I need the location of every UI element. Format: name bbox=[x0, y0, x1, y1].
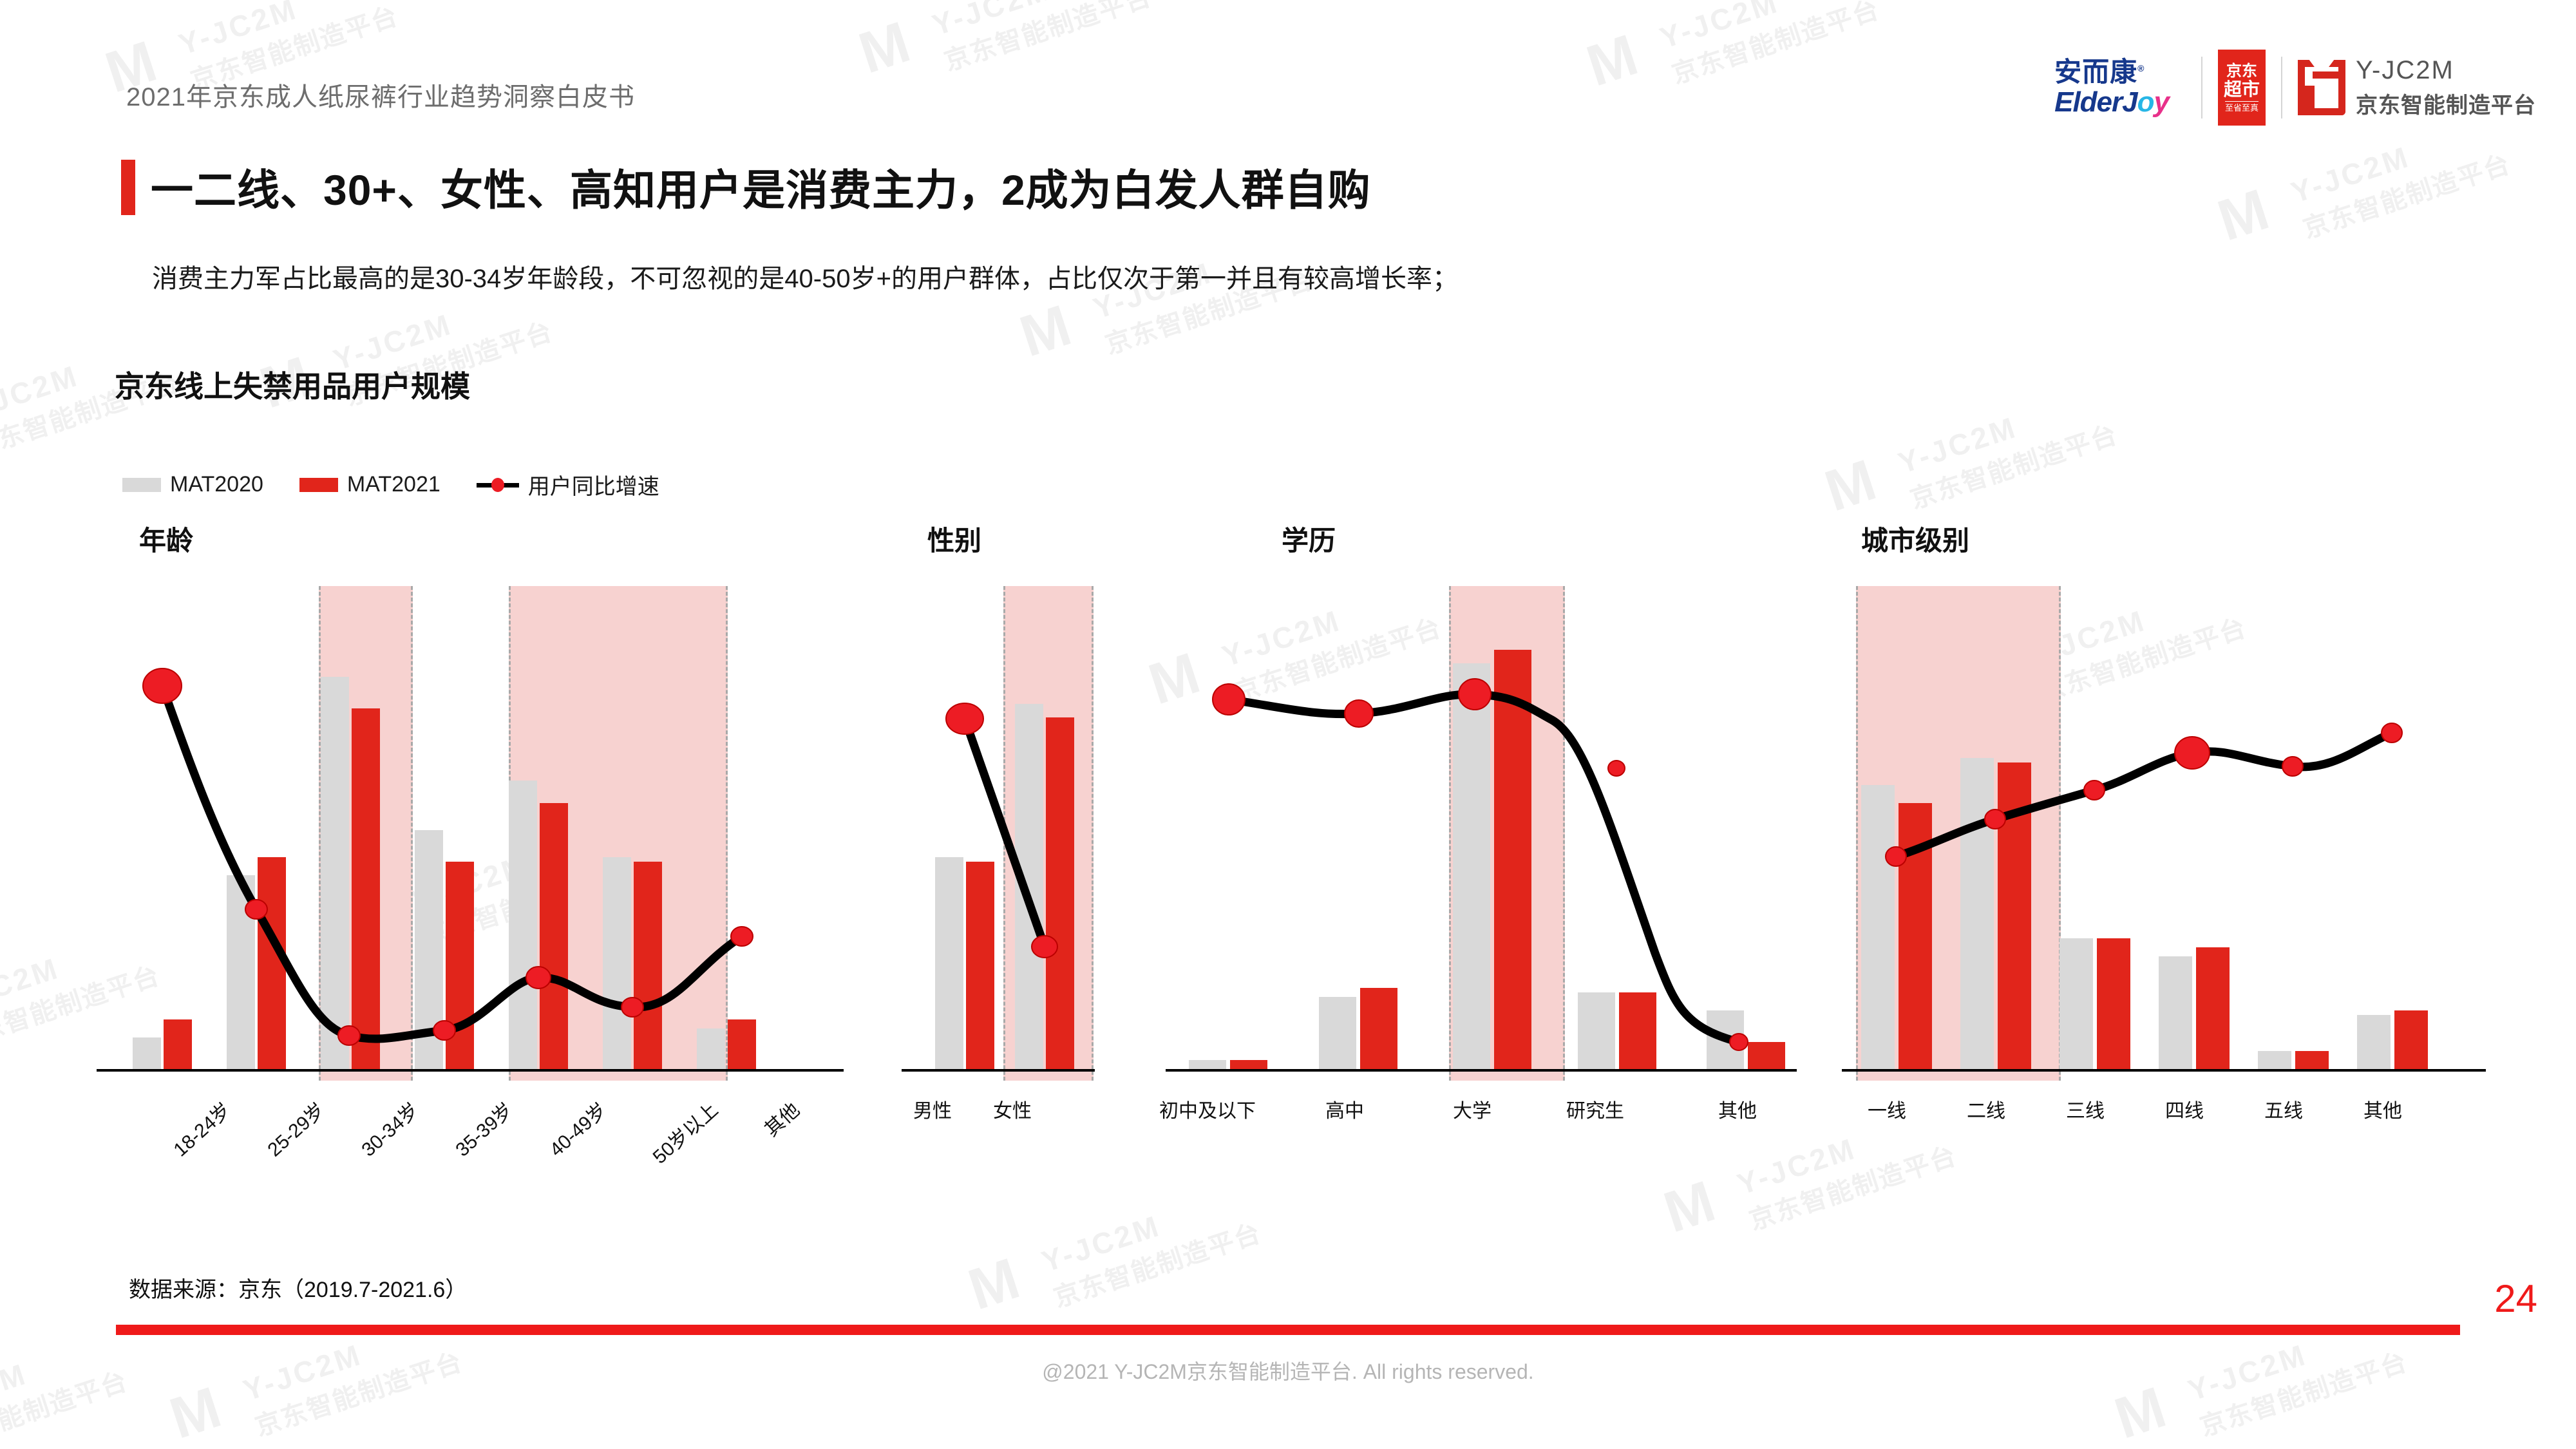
x-tick-label: 四线 bbox=[2165, 1095, 2204, 1123]
watermark-logo-icon: M bbox=[164, 1376, 242, 1449]
plot-area-gender bbox=[902, 618, 1095, 1069]
footer-rule bbox=[116, 1325, 2460, 1335]
yjc2m-logo: Y-JC2M 京东智能制造平台 bbox=[2298, 56, 2536, 119]
watermark-logo-icon: M bbox=[2109, 1376, 2187, 1449]
registered-icon: ® bbox=[2137, 63, 2145, 73]
watermark-logo-icon: M bbox=[1581, 23, 1659, 101]
page-title: 一二线、30+、女性、高知用户是消费主力，2成为白发人群自购 bbox=[151, 156, 1371, 218]
panel-title-education: 学历 bbox=[1282, 519, 1336, 558]
legend-swatch-icon bbox=[122, 478, 161, 492]
x-tick-label: 女性 bbox=[993, 1095, 1032, 1123]
yjc2m-wordmark: Y-JC2M 京东智能制造平台 bbox=[2356, 56, 2536, 119]
plot-area-education bbox=[1166, 618, 1797, 1069]
x-tick-label: 40-49岁 bbox=[542, 1095, 612, 1162]
x-tick-label: 其他 bbox=[2363, 1095, 2402, 1123]
jd-supermarket-logo: 京东 超市 至省至真 bbox=[2218, 50, 2266, 126]
watermark: M Y-JC2M 京东智能制造平台 bbox=[1656, 0, 1884, 91]
watermark: M Y-JC2M 京东智能制造平台 bbox=[1037, 1179, 1265, 1314]
chart-legend: MAT2020 MAT2021 用户同比增速 bbox=[122, 469, 659, 500]
x-tick-label: 初中及以下 bbox=[1159, 1095, 1256, 1123]
page-number: 24 bbox=[2494, 1276, 2537, 1321]
growth-line-education bbox=[1166, 618, 1797, 1069]
watermark-logo-icon: M bbox=[1819, 448, 1897, 526]
elderjoy-en-d: y bbox=[2154, 86, 2169, 118]
x-axis-line bbox=[97, 1069, 844, 1072]
x-tick-label: 其他 bbox=[1718, 1095, 1757, 1123]
watermark-logo-icon: M bbox=[1658, 1170, 1736, 1247]
copyright-text: @2021 Y-JC2M京东智能制造平台. All rights reserve… bbox=[0, 1356, 2576, 1385]
growth-line-age bbox=[97, 618, 844, 1069]
chart-title: 京东线上失禁用品用户规模 bbox=[115, 363, 470, 406]
x-tick-label: 18-24岁 bbox=[166, 1095, 236, 1162]
watermark: M Y-JC2M 京东智能制造平台 bbox=[2287, 110, 2515, 245]
plot-area-city-tier bbox=[1842, 618, 2486, 1069]
x-tick-label: 二线 bbox=[1967, 1095, 2005, 1123]
watermark-logo-icon: M bbox=[1014, 294, 1092, 372]
legend-item-mat2021[interactable]: MAT2021 bbox=[299, 472, 440, 497]
legend-swatch-icon bbox=[299, 478, 338, 492]
document-title: 2021年京东成人纸尿裤行业趋势洞察白皮书 bbox=[126, 76, 635, 113]
x-tick-label: 50岁以上 bbox=[645, 1095, 723, 1169]
legend-label: MAT2021 bbox=[347, 472, 440, 497]
watermark-logo-icon: M bbox=[853, 10, 931, 88]
x-axis-line bbox=[1842, 1069, 2486, 1072]
x-tick-label: 其他 bbox=[757, 1095, 804, 1142]
x-tick-label: 研究生 bbox=[1566, 1095, 1624, 1123]
watermark: M Y-JC2M 京东智能制造平台 bbox=[1733, 1102, 1961, 1237]
growth-line-city-tier bbox=[1842, 618, 2486, 1069]
yjc2m-mark-icon bbox=[2298, 60, 2345, 115]
growth-line-gender bbox=[902, 618, 1095, 1069]
elderjoy-en-c: o bbox=[2137, 86, 2154, 118]
headline-accent-bar bbox=[121, 160, 135, 215]
legend-item-growth[interactable]: 用户同比增速 bbox=[477, 469, 659, 500]
x-tick-label: 男性 bbox=[913, 1095, 952, 1123]
watermark: M Y-JC2M 京东智能制造平台 bbox=[0, 1327, 132, 1449]
x-tick-label: 一线 bbox=[1868, 1095, 1906, 1123]
x-tick-label: 五线 bbox=[2264, 1095, 2303, 1123]
elderjoy-logo: 安而康® ElderJoy bbox=[2054, 59, 2186, 117]
plot-area-age bbox=[97, 618, 844, 1069]
x-tick-label: 30-34岁 bbox=[354, 1095, 424, 1162]
logo-strip: 安而康® ElderJoy 京东 超市 至省至真 Y-JC2M 京东智能制造平台 bbox=[2054, 49, 2536, 126]
elderjoy-en-b: J bbox=[2122, 86, 2137, 118]
legend-item-mat2020[interactable]: MAT2020 bbox=[122, 472, 263, 497]
logo-divider bbox=[2281, 57, 2282, 118]
data-source: 数据来源：京东（2019.7-2021.6） bbox=[129, 1272, 467, 1303]
panel-title-city-tier: 城市级别 bbox=[1861, 519, 1969, 558]
watermark: M Y-JC2M 京东智能制造平台 bbox=[928, 0, 1156, 78]
elderjoy-cn-text: 安而康 bbox=[2054, 57, 2137, 87]
logo-divider bbox=[2201, 57, 2202, 118]
legend-label: 用户同比增速 bbox=[528, 469, 659, 500]
watermark-logo-icon: M bbox=[963, 1247, 1041, 1325]
watermark-logo-icon: M bbox=[2212, 178, 2290, 256]
x-tick-label: 高中 bbox=[1325, 1095, 1364, 1123]
x-tick-label: 35-39岁 bbox=[448, 1095, 518, 1162]
panel-title-gender: 性别 bbox=[927, 519, 981, 558]
x-tick-label: 三线 bbox=[2066, 1095, 2105, 1123]
panel-title-age: 年龄 bbox=[139, 519, 193, 558]
slide-canvas: M Y-JC2M 京东智能制造平台 M Y-JC2M 京东智能制造平台 M Y-… bbox=[0, 0, 2576, 1449]
page-subtitle: 消费主力军占比最高的是30-34岁年龄段，不可忽视的是40-50岁+的用户群体，… bbox=[152, 258, 1458, 295]
x-tick-label: 25-29岁 bbox=[260, 1095, 330, 1162]
x-tick-label: 大学 bbox=[1453, 1095, 1492, 1123]
x-axis-line bbox=[1166, 1069, 1797, 1072]
watermark: M Y-JC2M 京东智能制造平台 bbox=[1894, 381, 2122, 516]
legend-label: MAT2020 bbox=[170, 472, 263, 497]
x-axis-line bbox=[902, 1069, 1095, 1072]
elderjoy-en-a: Elder bbox=[2054, 86, 2122, 118]
legend-line-marker-icon bbox=[477, 478, 519, 492]
headline-block: 一二线、30+、女性、高知用户是消费主力，2成为白发人群自购 bbox=[121, 156, 1371, 218]
